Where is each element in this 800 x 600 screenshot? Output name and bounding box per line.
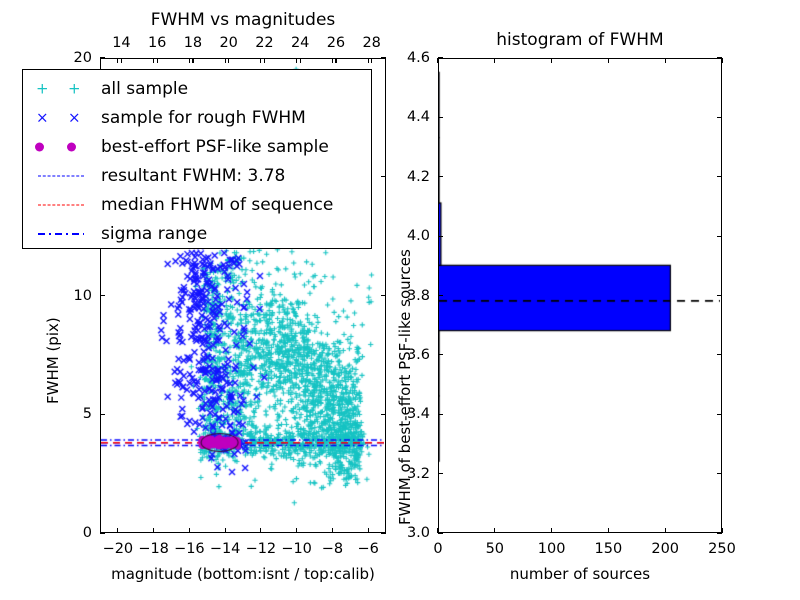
- axis-tick: [438, 176, 443, 177]
- x-tick-label: −6: [346, 542, 390, 557]
- axis-tick: [260, 58, 261, 63]
- filled-dot-icon: [35, 143, 44, 152]
- axis-tick: [189, 58, 190, 63]
- x-tick-label: 100: [530, 542, 574, 557]
- cross-x-icon: ×: [36, 111, 49, 126]
- axis-tick: [189, 528, 190, 533]
- legend-item[interactable]: best-effort PSF-like sample: [23, 132, 371, 162]
- axis-tick: [368, 528, 369, 533]
- histogram-axes[interactable]: [438, 58, 722, 533]
- axis-tick: [381, 176, 386, 177]
- legend-item[interactable]: resultant FWHM: 3.78: [23, 161, 371, 191]
- axis-tick: [332, 58, 333, 63]
- axis-tick: [438, 236, 443, 237]
- axis-tick: [225, 58, 226, 63]
- axis-tick: [717, 57, 722, 58]
- left-y-axis-label: FWHM (pix): [44, 317, 62, 404]
- axis-tick: [100, 57, 105, 58]
- axis-tick: [437, 58, 438, 63]
- dashed-line-icon: [23, 161, 101, 191]
- y-tick-label: 5: [60, 407, 92, 422]
- axis-tick: [438, 295, 443, 296]
- legend[interactable]: ++all sample××sample for rough FWHMbest-…: [22, 69, 372, 249]
- y-tick-label: 4.2: [394, 170, 430, 185]
- dashed-line-icon: [38, 205, 84, 206]
- legend-item[interactable]: sigma range: [23, 219, 371, 249]
- dashdot-line-icon: [38, 233, 84, 235]
- y-tick-label: 4.6: [394, 51, 430, 66]
- axis-tick: [300, 58, 301, 63]
- top-x-tick-label: 28: [350, 36, 394, 51]
- axis-tick: [717, 354, 722, 355]
- axis-tick: [153, 58, 154, 63]
- axis-tick: [438, 354, 443, 355]
- axis-tick: [368, 58, 369, 63]
- axis-tick: [157, 58, 158, 63]
- right-y-axis-label: FWHM of best-effort PSF-like sources: [396, 249, 414, 525]
- axis-tick: [332, 528, 333, 533]
- axis-tick: [228, 58, 229, 63]
- y-tick-label: 10: [60, 289, 92, 304]
- axis-tick: [494, 58, 495, 63]
- dashdot-line-icon: [23, 219, 101, 249]
- axis-tick: [438, 57, 443, 58]
- legend-item-label: best-effort PSF-like sample: [101, 137, 329, 157]
- axis-tick: [717, 176, 722, 177]
- x-tick-label: 200: [643, 542, 687, 557]
- axis-tick: [717, 117, 722, 118]
- axis-tick: [335, 58, 336, 63]
- y-tick-label: 4.4: [394, 110, 430, 125]
- axis-tick: [608, 528, 609, 533]
- axis-tick: [381, 414, 386, 415]
- y-tick-label: 0: [60, 526, 92, 541]
- axis-tick: [665, 58, 666, 63]
- axis-tick: [121, 58, 122, 63]
- axis-tick: [438, 532, 443, 533]
- legend-item-label: median FHWM of sequence: [101, 195, 333, 215]
- axis-tick: [551, 58, 552, 63]
- axis-tick: [438, 473, 443, 474]
- legend-item-label: resultant FWHM: 3.78: [101, 166, 285, 186]
- figure-root: FWHM vs magnitudes 1416182022242628 −20−…: [0, 0, 800, 600]
- histogram-plot-canvas[interactable]: [439, 59, 720, 531]
- axis-tick: [117, 58, 118, 63]
- plus-icon: +: [36, 82, 49, 97]
- axis-tick: [717, 414, 722, 415]
- x-tick-label: 150: [586, 542, 630, 557]
- axis-tick: [296, 528, 297, 533]
- cross-x-icon: ××: [23, 103, 101, 133]
- axis-tick: [494, 528, 495, 533]
- axis-tick: [717, 236, 722, 237]
- axis-tick: [260, 528, 261, 533]
- dashed-line-icon: [38, 176, 84, 177]
- left-panel-title: FWHM vs magnitudes: [100, 12, 386, 29]
- y-tick-label: 3.0: [394, 526, 430, 541]
- axis-tick: [225, 528, 226, 533]
- y-tick-label: 4.0: [394, 229, 430, 244]
- axis-tick: [438, 117, 443, 118]
- axis-tick: [100, 532, 105, 533]
- axis-tick: [296, 58, 297, 63]
- legend-item[interactable]: ××sample for rough FWHM: [23, 103, 371, 133]
- axis-tick: [264, 58, 265, 63]
- right-x-axis-label: number of sources: [438, 567, 722, 582]
- legend-item-label: sample for rough FWHM: [101, 108, 306, 128]
- legend-item-label: sigma range: [101, 224, 207, 244]
- legend-item[interactable]: ++all sample: [23, 74, 371, 104]
- x-tick-label: 0: [416, 542, 460, 557]
- legend-item[interactable]: median FHWM of sequence: [23, 190, 371, 220]
- axis-tick: [438, 414, 443, 415]
- axis-tick: [608, 58, 609, 63]
- plus-icon: +: [68, 82, 81, 97]
- left-x-axis-label: magnitude (bottom:isnt / top:calib): [100, 567, 386, 582]
- axis-tick: [100, 414, 105, 415]
- axis-tick: [717, 473, 722, 474]
- x-tick-label: 50: [473, 542, 517, 557]
- axis-tick: [721, 58, 722, 63]
- x-tick-label: 250: [700, 542, 744, 557]
- axis-tick: [117, 528, 118, 533]
- filled-dot-icon: [23, 132, 101, 162]
- axis-tick: [153, 528, 154, 533]
- axis-tick: [717, 532, 722, 533]
- axis-tick: [381, 295, 386, 296]
- y-tick-label: 20: [60, 51, 92, 66]
- plus-icon: ++: [23, 74, 101, 104]
- axis-tick: [192, 58, 193, 63]
- legend-item-label: all sample: [101, 79, 188, 99]
- axis-tick: [665, 528, 666, 533]
- dashed-line-icon: [23, 190, 101, 220]
- cross-x-icon: ×: [68, 111, 81, 126]
- right-panel-title: histogram of FWHM: [438, 32, 722, 49]
- axis-tick: [100, 295, 105, 296]
- filled-dot-icon: [67, 143, 76, 152]
- axis-tick: [551, 528, 552, 533]
- axis-tick: [381, 57, 386, 58]
- axis-tick: [381, 532, 386, 533]
- axis-tick: [371, 58, 372, 63]
- axis-tick: [717, 295, 722, 296]
